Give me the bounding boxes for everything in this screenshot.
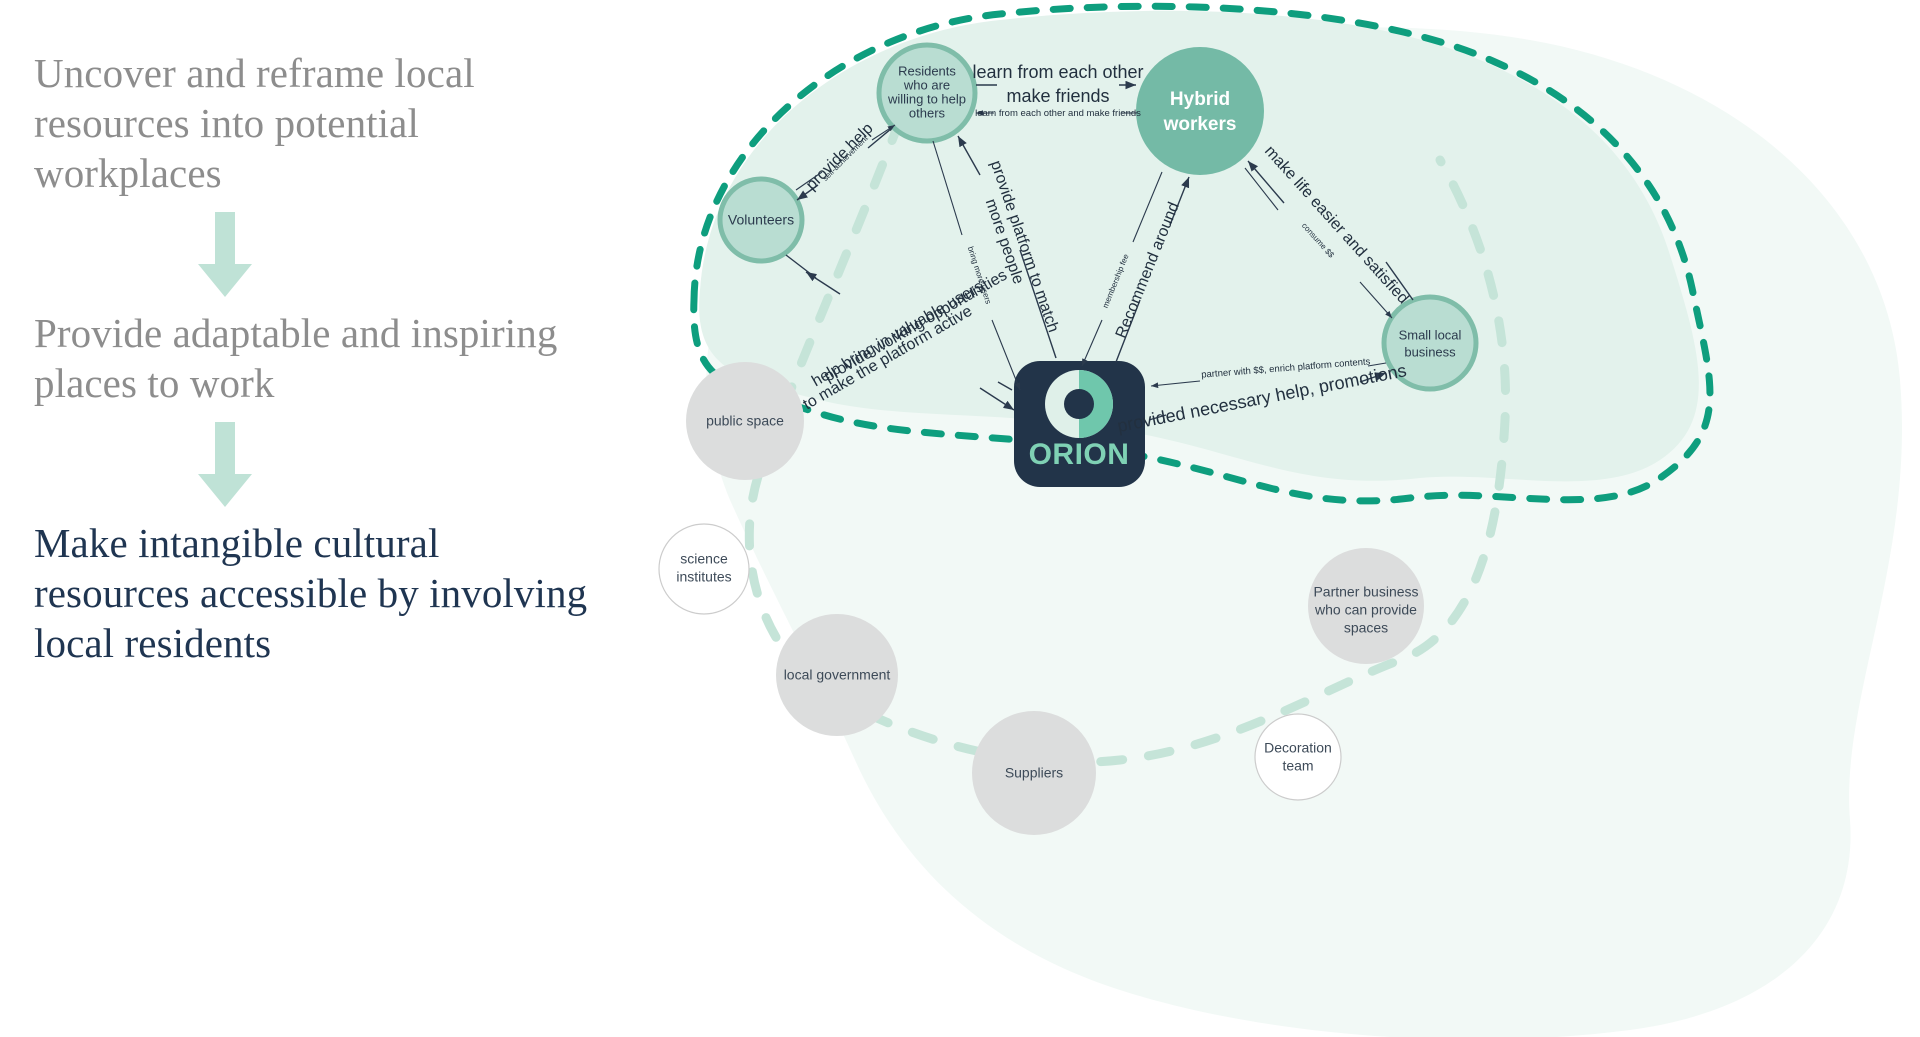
node-decoration-team[interactable]: Decoration team [1255,714,1341,800]
node-hybrid-workers[interactable]: Hybrid workers [1136,47,1264,175]
node-partner-business-label-line1: Partner business [1313,584,1418,600]
node-decoration-team-label-line2: team [1282,758,1313,774]
edge-label-learn-line1: learn from each other [972,62,1143,82]
node-local-government[interactable]: local government [776,614,898,736]
node-partner-business[interactable]: Partner business who can provide spaces [1308,548,1424,664]
node-suppliers-label: Suppliers [1005,765,1063,781]
node-science-institutes-label-line2: institutes [676,569,731,585]
orion-donut-logo [1045,370,1113,438]
statement-provide-adaptable: Provide adaptable and inspiring places t… [34,308,594,408]
orion-wordmark: ORION [1029,438,1130,471]
node-hybrid-workers-label-line2: workers [1163,114,1237,135]
edge-hybrid-to-residents-learn: learn from each other and make friends [975,108,1141,119]
node-small-local-business-label-line1: Small local [1399,327,1462,342]
statement-make-intangible: Make intangible cultural resources acces… [34,518,594,668]
down-arrow-icon [196,212,254,298]
node-local-government-label: local government [784,667,891,683]
node-residents-label-line4: others [909,105,946,120]
node-decoration-team-label-line1: Decoration [1264,740,1332,756]
node-partner-business-label-line3: spaces [1344,620,1388,636]
statement-uncover-reframe: Uncover and reframe local resources into… [34,48,594,198]
node-small-local-business-label-line2: business [1404,344,1456,359]
node-science-institutes-label-line1: science [680,551,728,567]
node-hybrid-workers-label-line1: Hybrid [1170,89,1230,110]
node-residents-label-line2: who are [903,77,950,92]
edge-label-learn-reverse: learn from each other and make friends [975,108,1141,119]
node-residents-label-line1: Residents [898,63,956,78]
node-volunteers[interactable]: Volunteers [720,179,802,261]
node-volunteers-label: Volunteers [728,212,794,228]
node-public-space[interactable]: public space [686,362,804,480]
flow-arrow-2 [34,408,594,518]
down-arrow-icon [196,422,254,508]
node-public-space-label: public space [706,413,784,429]
node-partner-business-label-line2: who can provide [1314,602,1417,618]
node-hybrid-workers-circle[interactable] [1136,47,1264,175]
flow-arrow-1 [34,198,594,308]
left-statement-column: Uncover and reframe local resources into… [34,48,594,668]
node-residents-label-line3: willing to help [887,91,966,106]
node-suppliers[interactable]: Suppliers [972,711,1096,835]
edge-label-learn-line2: make friends [1006,86,1109,106]
node-science-institutes[interactable]: science institutes [659,524,749,614]
ecosystem-diagram: Residents who are willing to help others… [600,0,1920,1037]
